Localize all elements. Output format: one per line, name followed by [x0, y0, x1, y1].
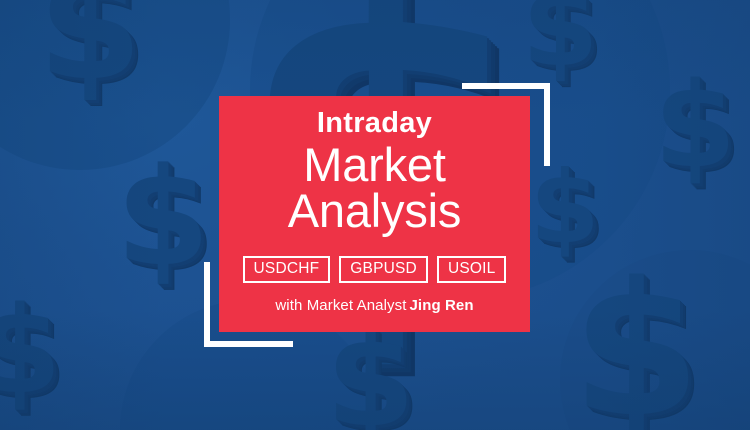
intraday-market-analysis-banner: $$$$$$$$$ Intraday Market Analysis USDCH…	[0, 0, 750, 430]
ticker-badge-gbpusd[interactable]: GBPUSD	[339, 256, 428, 283]
title-panel-content: Intraday Market Analysis USDCHFGBPUSDUSO…	[219, 96, 530, 332]
bracket-bottom-left-horizontal	[204, 341, 293, 347]
kicker-text: Intraday	[317, 108, 432, 140]
bracket-top-right-horizontal	[462, 83, 550, 89]
title-panel: Intraday Market Analysis USDCHFGBPUSDUSO…	[219, 96, 530, 332]
ticker-badge-usoil[interactable]: USOIL	[437, 256, 507, 283]
dollar-mid-left-icon: $	[116, 150, 210, 285]
byline-author: Jing Ren	[409, 297, 473, 314]
bracket-top-right-vertical	[544, 83, 550, 166]
page-title-line-2: Analysis	[288, 188, 461, 234]
bracket-bottom-left-vertical	[204, 262, 210, 347]
ticker-badge-list: USDCHFGBPUSDUSOIL	[243, 256, 507, 283]
byline: with Market AnalystJing Ren	[275, 297, 473, 314]
dollar-bottom-left-icon: $	[0, 292, 62, 412]
dollar-right-lower-icon: $	[572, 258, 701, 430]
dollar-bottom-center-icon: $	[326, 318, 415, 430]
byline-prefix: with Market Analyst	[275, 297, 406, 314]
ticker-badge-usdchf[interactable]: USDCHF	[243, 256, 331, 283]
dollar-right-upper-icon: $	[654, 66, 736, 184]
page-title-line-1: Market	[303, 138, 445, 191]
page-title: Market Analysis	[288, 142, 461, 234]
dollar-top-left-icon: $	[38, 0, 142, 102]
dollar-top-right-icon: $	[522, 0, 599, 82]
